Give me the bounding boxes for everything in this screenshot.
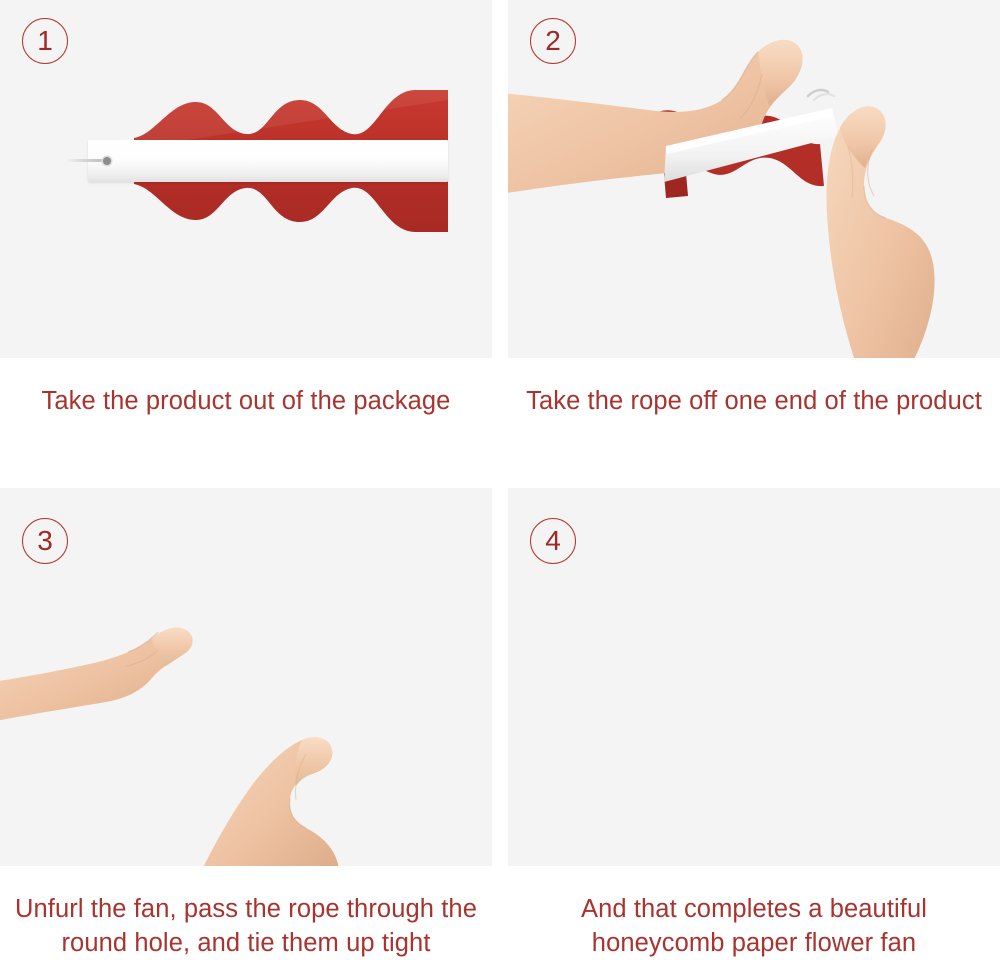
rope bbox=[66, 159, 106, 162]
step-number-badge-3: 3 bbox=[22, 518, 68, 564]
step-3-photo: 3 bbox=[0, 488, 492, 866]
step-number-badge-1: 1 bbox=[22, 18, 68, 64]
step-number-badge-2: 2 bbox=[530, 18, 576, 64]
step-number-badge-4: 4 bbox=[530, 518, 576, 564]
step-4-caption: And that completes a beautiful honeycomb… bbox=[508, 866, 1000, 960]
rope-2 bbox=[808, 90, 834, 100]
caption-line: And that completes a beautiful bbox=[522, 892, 986, 926]
step-1-caption: Take the product out of the package bbox=[0, 358, 492, 418]
instruction-sheet: 1 Take th bbox=[0, 0, 1000, 956]
step-4-photo: 4 bbox=[508, 488, 1000, 866]
caption-line: Take the product out of the package bbox=[14, 384, 478, 418]
step-card-1: 1 Take th bbox=[0, 0, 492, 418]
caption-line: honeycomb paper flower fan bbox=[522, 926, 986, 960]
step-card-3: 3 bbox=[0, 488, 492, 960]
caption-line: round hole, and tie them up tight bbox=[14, 926, 478, 960]
folded-fan-assembly bbox=[88, 86, 448, 236]
caption-line: Take the rope off one end of the product bbox=[522, 384, 986, 418]
step-3-caption: Unfurl the fan, pass the rope through th… bbox=[0, 866, 492, 960]
hands-tying-rope-illustration bbox=[0, 488, 492, 866]
step-1-photo: 1 bbox=[0, 0, 492, 358]
step-card-2: 2 bbox=[508, 0, 1000, 418]
step-card-4: 4 And that completes a beautiful honeyco… bbox=[508, 488, 1000, 960]
hands-removing-rope-illustration bbox=[508, 0, 1000, 358]
caption-line: Unfurl the fan, pass the rope through th… bbox=[14, 892, 478, 926]
step-2-photo: 2 bbox=[508, 0, 1000, 358]
step-2-caption: Take the rope off one end of the product bbox=[508, 358, 1000, 418]
left-hand-3 bbox=[0, 628, 193, 724]
eyelet-hole bbox=[103, 157, 111, 165]
right-hand-3 bbox=[196, 737, 340, 866]
right-hand bbox=[827, 106, 935, 358]
white-card-strip bbox=[88, 140, 448, 182]
